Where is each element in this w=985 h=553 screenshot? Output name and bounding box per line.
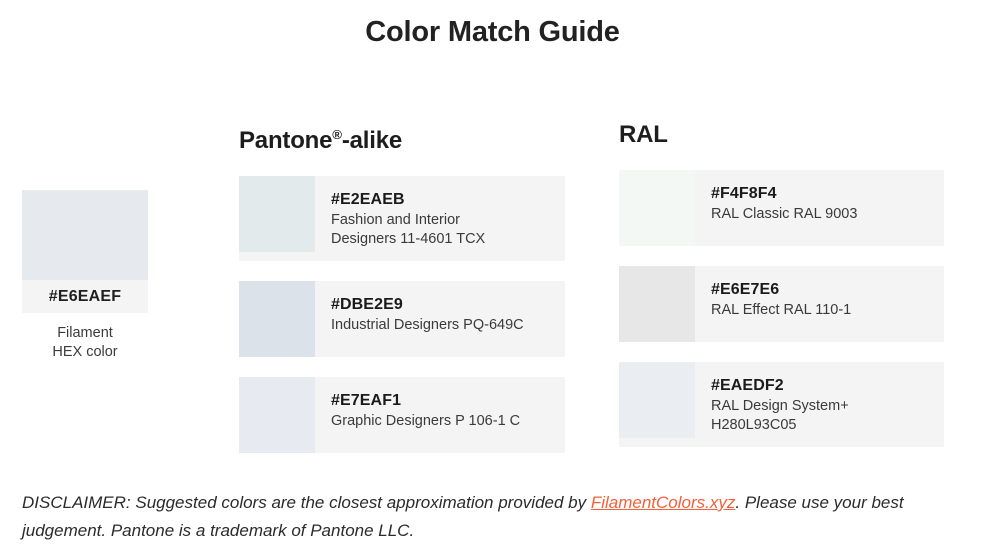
registered-trademark-icon: ® (332, 127, 342, 142)
card-text: #E7EAF1 Graphic Designers P 106-1 C (315, 377, 520, 453)
pantone-column-heading: Pantone®-alike (239, 120, 565, 156)
card-subtitle: Fashion and Interior Designers 11-4601 T… (331, 211, 485, 249)
filament-color-swatch (22, 190, 148, 280)
card-color-swatch (239, 281, 315, 357)
filamentcolors-link[interactable]: FilamentColors.xyz (591, 493, 736, 512)
card-hex-label: #EAEDF2 (711, 375, 849, 396)
filament-color-block: #E6EAEF Filament HEX color (22, 190, 148, 362)
card-subtitle: RAL Effect RAL 110-1 (711, 301, 851, 320)
match-card[interactable]: #E6E7E6 RAL Effect RAL 110-1 (619, 266, 944, 342)
filament-hex-label: #E6EAEF (22, 280, 148, 313)
match-card[interactable]: #E7EAF1 Graphic Designers P 106-1 C (239, 377, 565, 453)
card-hex-label: #DBE2E9 (331, 294, 524, 315)
ral-heading-main: RAL (619, 121, 668, 148)
ral-column: RAL #F4F8F4 RAL Classic RAL 9003 #E6E7E6… (619, 120, 944, 467)
card-color-swatch (619, 266, 695, 342)
pantone-heading-tail: -alike (342, 127, 402, 154)
card-subtitle: Industrial Designers PQ-649C (331, 316, 524, 335)
card-text: #DBE2E9 Industrial Designers PQ-649C (315, 281, 524, 357)
page-title: Color Match Guide (0, 16, 985, 49)
card-hex-label: #E7EAF1 (331, 390, 520, 411)
disclaimer: DISCLAIMER: Suggested colors are the clo… (22, 489, 972, 545)
match-card[interactable]: #E2EAEB Fashion and Interior Designers 1… (239, 176, 565, 261)
ral-column-heading: RAL (619, 120, 944, 150)
card-subtitle: RAL Classic RAL 9003 (711, 205, 857, 224)
pantone-heading-main: Pantone (239, 127, 332, 154)
card-hex-label: #E6E7E6 (711, 279, 851, 300)
card-text: #E6E7E6 RAL Effect RAL 110-1 (695, 266, 851, 342)
disclaimer-text-before: DISCLAIMER: Suggested colors are the clo… (22, 493, 591, 512)
filament-caption: Filament HEX color (22, 324, 148, 362)
card-subtitle: Graphic Designers P 106-1 C (331, 412, 520, 431)
card-color-swatch (619, 362, 695, 438)
card-color-swatch (619, 170, 695, 246)
card-subtitle: RAL Design System+ H280L93C05 (711, 397, 849, 435)
card-color-swatch (239, 176, 315, 252)
filament-caption-line-1: Filament (22, 324, 148, 343)
pantone-column: Pantone®-alike #E2EAEB Fashion and Inter… (239, 120, 565, 473)
match-card[interactable]: #DBE2E9 Industrial Designers PQ-649C (239, 281, 565, 357)
match-card[interactable]: #F4F8F4 RAL Classic RAL 9003 (619, 170, 944, 246)
card-hex-label: #E2EAEB (331, 189, 485, 210)
card-color-swatch (239, 377, 315, 453)
card-text: #EAEDF2 RAL Design System+ H280L93C05 (695, 362, 849, 447)
match-card[interactable]: #EAEDF2 RAL Design System+ H280L93C05 (619, 362, 944, 447)
card-hex-label: #F4F8F4 (711, 183, 857, 204)
card-text: #F4F8F4 RAL Classic RAL 9003 (695, 170, 857, 246)
card-text: #E2EAEB Fashion and Interior Designers 1… (315, 176, 485, 261)
filament-caption-line-2: HEX color (22, 343, 148, 362)
